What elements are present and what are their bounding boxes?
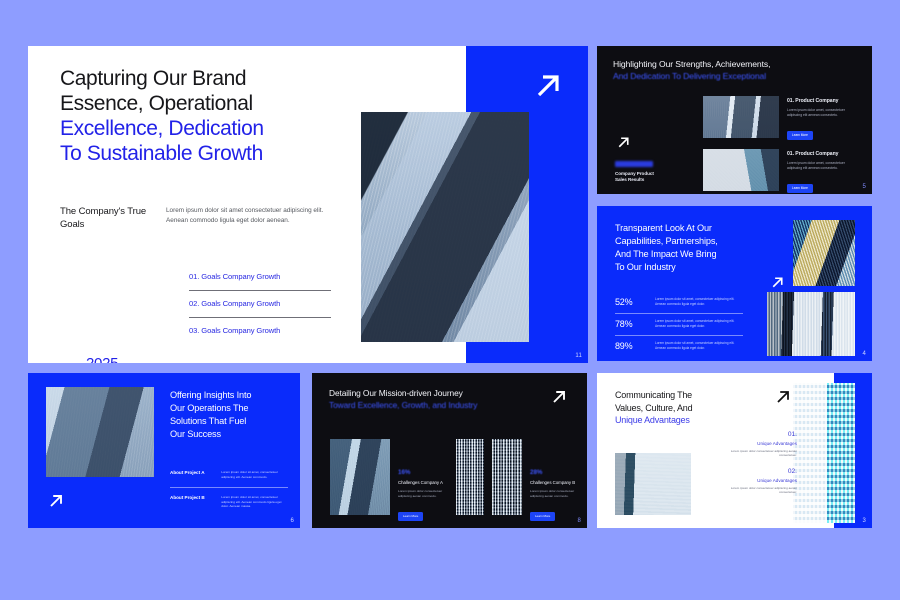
hero-goals-body: Lorem ipsum dolor sit amet consectetuer …	[166, 206, 326, 231]
list-item: 52% Lorem ipsum dolor sit amet, consecte…	[615, 292, 743, 313]
list-item: About Project B Lorem ipsum dolor sit am…	[170, 487, 288, 517]
journey-percent: 16%	[398, 469, 456, 476]
product-card-title: 01. Product Company	[787, 151, 855, 157]
slide-journey-title: Detailing Our Mission-driven Journey Tow…	[329, 387, 534, 411]
title-line-4: To Our Industry	[615, 262, 676, 272]
stat-value: 78%	[615, 319, 641, 329]
product-card-text: 01. Product Company Lorem ipsum dolor am…	[787, 149, 855, 194]
list-item[interactable]: 01. Goals Company Growth	[189, 264, 331, 290]
stat-value: 89%	[615, 341, 641, 351]
stat-description: Lorem ipsum dolor sit amet, consectetuer…	[655, 341, 741, 350]
product-card-title: 01. Product Company	[787, 98, 855, 104]
advantage-number: 02.	[727, 468, 797, 475]
list-item[interactable]: 01. Product Company Lorem ipsum dolor am…	[703, 96, 855, 141]
advantages-list: 01. Unique Advantages Lorem ipsum dolor …	[727, 431, 797, 505]
page-number: 4	[862, 351, 866, 357]
slide-strengths-title-blue: And Dedication To Delivering Exceptional	[613, 70, 858, 82]
title-line-4: Our Success	[170, 429, 221, 439]
arrow-up-right-icon	[46, 491, 66, 511]
hero-title-line-2: Essence, Operational	[60, 92, 253, 115]
stat-description: Lorem ipsum dolor sit amet, consectetuer…	[655, 297, 741, 306]
page-number: 8	[577, 518, 581, 524]
transparency-photo-bottom	[767, 292, 855, 356]
hero-title-block: Capturing Our Brand Essence, Operational…	[60, 66, 346, 166]
list-item: 89% Lorem ipsum dolor sit amet, consecte…	[615, 335, 743, 357]
product-card-photo	[703, 149, 779, 191]
project-label: About Project A	[170, 470, 211, 479]
journey-photo	[456, 439, 484, 515]
title-line-2: Our Operations The	[170, 403, 248, 413]
project-body: Lorem ipsum dolor sit amet, consectetuer…	[221, 470, 288, 479]
hero-goals-label: The Company's True Goals	[60, 206, 148, 231]
hero-goals-row: The Company's True Goals Lorem ipsum dol…	[60, 206, 350, 231]
journey-body: Lorem ipsum dolor consectetuer adipiscin…	[530, 489, 587, 498]
arrow-up-right-icon	[549, 387, 569, 407]
tag-line-2: Sales Results	[615, 177, 654, 183]
journey-text: 28% Challenges Company B Lorem ipsum dol…	[530, 439, 587, 522]
slide-transparency-title: Transparent Look At Our Capabilities, Pa…	[615, 222, 755, 274]
list-item: About Project A Lorem ipsum dolor sit am…	[170, 463, 288, 487]
advantage-title: Unique Advantages	[727, 441, 797, 446]
list-item: 02. Unique Advantages Lorem ipsum dolor …	[727, 468, 797, 495]
title-line-3: And The Impact We Bring	[615, 249, 716, 259]
slide-hero[interactable]: Capturing Our Brand Essence, Operational…	[28, 46, 588, 363]
stat-description: Lorem ipsum dolor sit amet, consectetuer…	[655, 319, 741, 328]
journey-photo	[492, 439, 522, 515]
page-number: 3	[862, 518, 866, 524]
list-item[interactable]: 03. Goals Company Growth	[189, 317, 331, 344]
arrow-up-right-icon	[530, 68, 566, 104]
advantage-number: 01.	[727, 431, 797, 438]
product-card-body: Lorem ipsum dolor amet, consectetuer adi…	[787, 108, 855, 118]
presentation-preview-canvas: Capturing Our Brand Essence, Operational…	[0, 0, 900, 600]
list-item[interactable]: 01. Product Company Lorem ipsum dolor am…	[703, 149, 855, 194]
advantage-title: Unique Advantages	[727, 478, 797, 483]
slide-strengths-tag-text: Company Product Sales Results	[615, 171, 654, 183]
slide-strengths-tag-highlight	[615, 161, 653, 167]
product-card-text: 01. Product Company Lorem ipsum dolor am…	[787, 96, 855, 141]
title-line-2: Values, Culture, And	[615, 403, 692, 413]
slide-journey-title-white: Detailing Our Mission-driven Journey	[329, 388, 463, 398]
page-number: 5	[862, 184, 866, 190]
list-item: 01. Unique Advantages Lorem ipsum dolor …	[727, 431, 797, 458]
learn-more-button[interactable]: Learn More	[398, 512, 423, 521]
title-line-1: Transparent Look At Our	[615, 223, 712, 233]
slide-insights-title: Offering Insights Into Our Operations Th…	[170, 389, 292, 441]
hero-year: 2025	[86, 355, 118, 363]
slide-communicating[interactable]: Communicating The Values, Culture, And U…	[597, 373, 872, 528]
journey-title: Challenges Company A	[398, 480, 456, 485]
journey-text: 16% Challenges Company A Lorem ipsum dol…	[398, 439, 456, 522]
title-line-1: Offering Insights Into	[170, 390, 251, 400]
advantage-body: Lorem ipsum dolor consectetuer adipiscin…	[727, 486, 797, 495]
title-line-1: Communicating The	[615, 390, 692, 400]
title-line-3: Unique Advantages	[615, 414, 727, 427]
journey-body: Lorem ipsum dolor consectetuer adipiscin…	[398, 489, 456, 498]
list-item: 78% Lorem ipsum dolor sit amet, consecte…	[615, 313, 743, 335]
project-label: About Project B	[170, 495, 211, 509]
hero-title-line-4: To Sustainable Growth	[60, 141, 346, 166]
product-card-body: Lorem ipsum dolor amet, consectetuer adi…	[787, 161, 855, 171]
learn-more-button[interactable]: Learn More	[787, 184, 813, 193]
statistics-list: 52% Lorem ipsum dolor sit amet, consecte…	[615, 292, 743, 357]
list-item[interactable]: 16% Challenges Company A Lorem ipsum dol…	[330, 439, 456, 522]
stat-value: 52%	[615, 297, 641, 307]
learn-more-button[interactable]: Learn More	[787, 131, 813, 140]
advantage-body: Lorem ipsum dolor consectetuer adipiscin…	[727, 449, 797, 458]
journey-photo	[330, 439, 390, 515]
communicating-photo-right	[793, 383, 855, 523]
slide-insights[interactable]: Offering Insights Into Our Operations Th…	[28, 373, 300, 528]
journey-percent: 28%	[530, 469, 587, 476]
product-card-list: 01. Product Company Lorem ipsum dolor am…	[703, 96, 855, 194]
slide-strengths-title-white: Highlighting Our Strengths, Achievements…	[613, 59, 770, 69]
slide-journey[interactable]: Detailing Our Mission-driven Journey Tow…	[312, 373, 587, 528]
arrow-up-right-icon	[615, 134, 632, 151]
page-title: Capturing Our Brand Essence, Operational…	[60, 66, 346, 166]
slide-strengths[interactable]: Highlighting Our Strengths, Achievements…	[597, 46, 872, 194]
project-body: Lorem ipsum dolor sit amet, consectetuer…	[221, 495, 288, 509]
arrow-up-right-icon	[769, 274, 786, 291]
hero-title-line-1: Capturing Our Brand	[60, 67, 246, 90]
slide-strengths-title: Highlighting Our Strengths, Achievements…	[613, 58, 858, 82]
hero-building-photo	[361, 112, 529, 342]
list-item[interactable]: 28% Challenges Company B Lorem ipsum dol…	[456, 439, 587, 522]
insights-building-photo	[46, 387, 154, 477]
list-item[interactable]: 02. Goals Company Growth	[189, 290, 331, 317]
slide-journey-title-blue: Toward Excellence, Growth, and Industry	[329, 399, 534, 411]
journey-title: Challenges Company B	[530, 480, 587, 485]
hero-title-line-3: Excellence, Dedication	[60, 116, 346, 141]
learn-more-button[interactable]: Learn More	[530, 512, 555, 521]
title-line-2: Capabilities, Partnerships,	[615, 236, 718, 246]
title-line-3: Solutions That Fuel	[170, 416, 246, 426]
communicating-photo-left	[615, 453, 691, 515]
transparency-photo-top	[793, 220, 855, 286]
slide-transparency[interactable]: Transparent Look At Our Capabilities, Pa…	[597, 206, 872, 361]
hero-goals-list: 01. Goals Company Growth 02. Goals Compa…	[189, 264, 331, 344]
product-card-photo	[703, 96, 779, 138]
arrow-up-right-icon	[773, 387, 793, 407]
page-number: 11	[575, 353, 582, 359]
slide-communicating-title: Communicating The Values, Culture, And U…	[615, 389, 727, 427]
projects-list: About Project A Lorem ipsum dolor sit am…	[170, 463, 288, 517]
page-number: 6	[290, 518, 294, 524]
